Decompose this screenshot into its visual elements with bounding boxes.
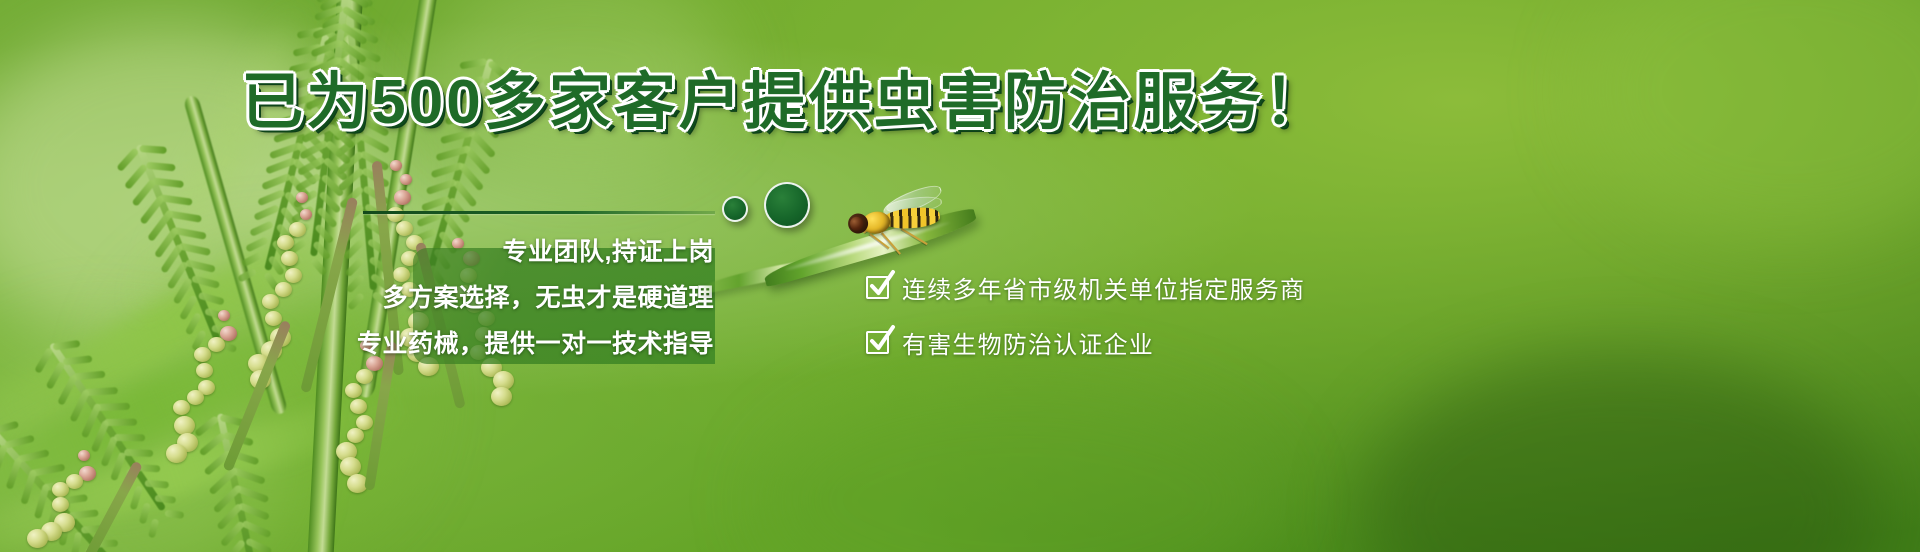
flower-bud xyxy=(394,190,411,205)
feature-line-2: 多方案选择，无虫才是硬道理 xyxy=(382,278,714,314)
frond-pinna xyxy=(124,449,153,457)
frond-pinna xyxy=(139,502,151,525)
feature-line-3: 专业药械，提供一对一技术指导 xyxy=(357,324,714,360)
frond-pinna xyxy=(53,340,81,351)
credential-label: 有害生物防治认证企业 xyxy=(902,325,1154,360)
flower-bud xyxy=(166,444,187,463)
credential-list: 连续多年省市级机关单位指定服务商 有害生物防治认证企业 xyxy=(866,270,1305,360)
feature-panel-text: 专业团队,持证上岗 多方案选择，无虫才是硬道理 专业药械，提供一对一技术指导 xyxy=(330,210,730,382)
flower-bud xyxy=(52,482,69,497)
frond-pinna xyxy=(116,147,139,172)
hoverfly-leg xyxy=(869,233,889,249)
promo-banner: 已为500多家客户提供虫害防治服务！ 专业团队,持证上岗 多方案选择，无虫才是硬… xyxy=(0,0,1920,552)
flower-bud xyxy=(262,294,279,309)
frond-pinna xyxy=(70,532,82,552)
flower-bud xyxy=(347,428,364,443)
checkbox-checked-icon xyxy=(866,276,889,299)
hoverfly-leg xyxy=(901,228,928,245)
flower-bud xyxy=(285,268,302,283)
headline-text: 已为500多家客户提供虫害防治服务！ xyxy=(241,68,1328,137)
list-item: 连续多年省市级机关单位指定服务商 xyxy=(866,270,1305,305)
frond-pinna xyxy=(63,355,93,365)
frond-pinna xyxy=(114,434,145,441)
frond-pinna xyxy=(69,389,90,423)
frond-pinna xyxy=(241,252,263,268)
flower-bud xyxy=(194,347,211,362)
frond-pinna xyxy=(194,415,219,437)
flower-bud xyxy=(350,399,367,414)
feature-line-1: 专业团队,持证上岗 xyxy=(503,232,714,268)
frond-pinna xyxy=(245,236,268,252)
flower-bud xyxy=(390,160,402,171)
page-title: 已为500多家客户提供虫害防治服务！ xyxy=(0,72,1570,134)
frond-pinna xyxy=(249,220,274,237)
decorative-dot-large xyxy=(764,182,810,228)
flower-bud xyxy=(345,383,362,398)
flower-bud xyxy=(218,310,230,321)
frond-pinna xyxy=(57,375,78,406)
flower-bud xyxy=(491,387,512,406)
flower-bud xyxy=(275,282,292,297)
credential-label: 连续多年省市级机关单位指定服务商 xyxy=(902,270,1305,305)
frond-pinna xyxy=(164,509,184,519)
flower-bud xyxy=(296,192,308,203)
frond-pinna xyxy=(73,371,105,381)
flower-bud xyxy=(78,450,90,461)
list-item: 有害生物防治认证企业 xyxy=(866,325,1305,360)
flower-bud xyxy=(281,251,298,266)
frond-pinna xyxy=(148,518,159,538)
flower-bud xyxy=(173,400,190,415)
checkbox-checked-icon xyxy=(866,331,889,354)
flower-bud xyxy=(289,222,306,237)
flower-bud xyxy=(300,209,312,220)
flower-bud xyxy=(277,235,294,250)
flower-bud xyxy=(400,174,412,185)
flower-bud xyxy=(208,337,225,352)
flower-bud xyxy=(196,363,213,378)
